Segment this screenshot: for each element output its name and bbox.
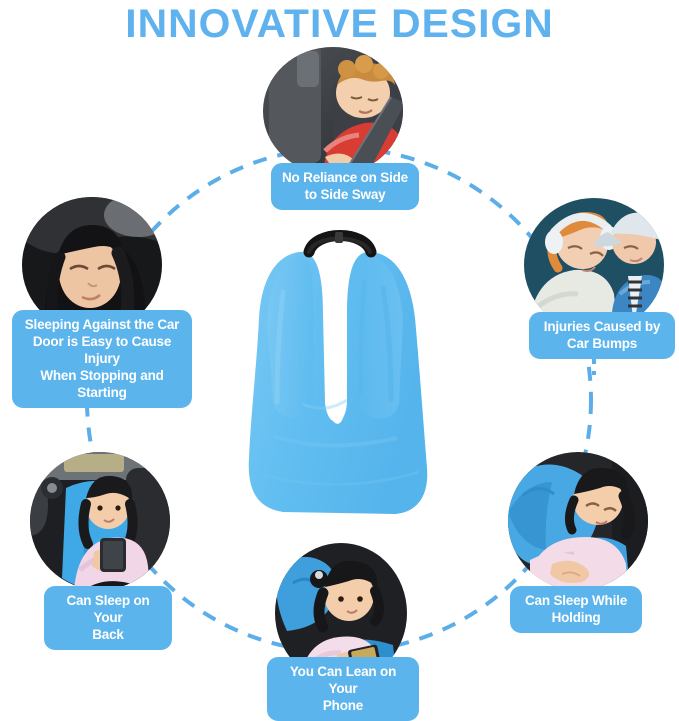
page-title: INNOVATIVE DESIGN: [0, 2, 679, 46]
photo-no-sway: [263, 47, 403, 175]
pill-sleep-while-holding: Can Sleep While Holding: [510, 586, 642, 633]
infographic-canvas: INNOVATIVE DESIGN: [0, 0, 679, 704]
photo-sleep-while-holding: [508, 452, 648, 590]
pill-sleep-on-back: Can Sleep on Your Back: [44, 586, 172, 650]
pill-door-injury: Sleeping Against the Car Door is Easy to…: [12, 310, 192, 408]
pill-lean-on-phone: You Can Lean on Your Phone: [267, 657, 419, 721]
product-travel-pillow: [243, 222, 437, 522]
pill-car-bumps: Injuries Caused by Car Bumps: [529, 312, 675, 359]
photo-sleep-on-back: [30, 452, 170, 590]
pill-no-sway: No Reliance on Side to Side Sway: [271, 163, 419, 210]
